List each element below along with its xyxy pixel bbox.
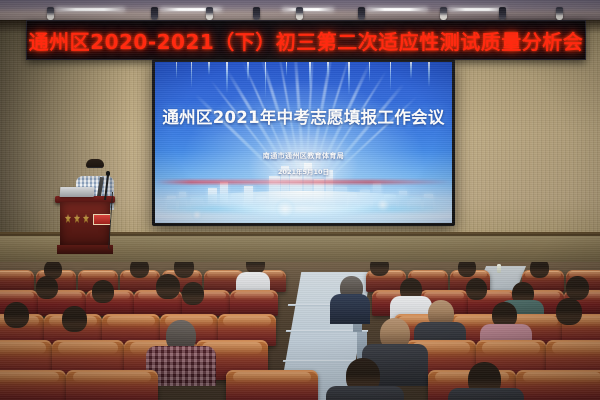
speaker-glasses xyxy=(88,167,102,172)
podium-body xyxy=(60,202,110,246)
led-screen-frame: 通州区2021年中考志愿填报工作会议 南通市通州区教育体育局 2021年5月10… xyxy=(152,59,455,226)
audience-seating-area xyxy=(0,262,600,400)
audience-torso xyxy=(448,388,524,400)
podium-plaque xyxy=(93,214,111,225)
water-bottle xyxy=(497,264,501,273)
seat xyxy=(0,370,66,400)
laptop-on-podium xyxy=(60,187,95,197)
audience-head xyxy=(182,282,204,305)
audience-head xyxy=(370,262,389,276)
ceiling-light-track-5 xyxy=(448,8,506,11)
led-banner: 通州区2020-2021（下）初三第二次适应性测试质量分析会 xyxy=(26,20,586,60)
audience-head xyxy=(62,306,87,332)
podium-base xyxy=(57,245,113,254)
ceiling-spotlight-6 xyxy=(358,7,365,20)
ceiling xyxy=(0,0,600,22)
ceiling-light-track-3 xyxy=(282,8,334,11)
screen-title: 通州区2021年中考志愿填报工作会议 xyxy=(155,104,452,128)
podium xyxy=(58,196,112,256)
ceiling-light-track-4 xyxy=(366,8,428,11)
ceiling-light-track-1 xyxy=(55,8,125,11)
screen-date: 2021年5月10日 xyxy=(155,166,452,176)
led-screen: 通州区2021年中考志愿填报工作会议 南通市通州区教育体育局 2021年5月10… xyxy=(155,62,452,223)
audience-head xyxy=(130,262,149,278)
conference-hall-photo: 通州区2020-2021（下）初三第二次适应性测试质量分析会 xyxy=(0,0,600,400)
audience-head xyxy=(458,262,476,277)
ceiling-spotlight-9 xyxy=(556,7,563,20)
audience-head xyxy=(566,276,589,300)
podium-emblem-3 xyxy=(83,214,89,223)
ceiling-spotlight-8 xyxy=(499,7,506,20)
microphone-head xyxy=(106,171,110,176)
audience-head xyxy=(92,280,114,303)
audience-head xyxy=(556,298,582,325)
seat xyxy=(516,370,600,400)
audience-head xyxy=(530,262,549,278)
seat xyxy=(226,370,318,400)
podium-emblem-1 xyxy=(65,214,71,223)
audience-head xyxy=(4,302,29,328)
audience-head xyxy=(156,274,180,299)
screen-organization: 南通市通州区教育体育局 xyxy=(155,151,452,161)
ceiling-spotlight-4 xyxy=(253,7,260,20)
ceiling-spotlight-1 xyxy=(47,7,54,20)
ceiling-spotlight-5 xyxy=(296,7,303,20)
ceiling-spotlight-3 xyxy=(206,7,213,20)
led-banner-text: 通州区2020-2021（下）初三第二次适应性测试质量分析会 xyxy=(29,26,584,55)
podium-emblem-2 xyxy=(74,214,80,223)
ceiling-spotlight-7 xyxy=(440,7,447,20)
audience-head xyxy=(174,262,194,278)
audience-torso xyxy=(326,386,404,400)
ceiling-spotlight-2 xyxy=(151,7,158,20)
audience-head xyxy=(36,276,58,299)
screen-vignette xyxy=(155,62,452,223)
audience-head xyxy=(466,278,487,300)
seat xyxy=(66,370,158,400)
